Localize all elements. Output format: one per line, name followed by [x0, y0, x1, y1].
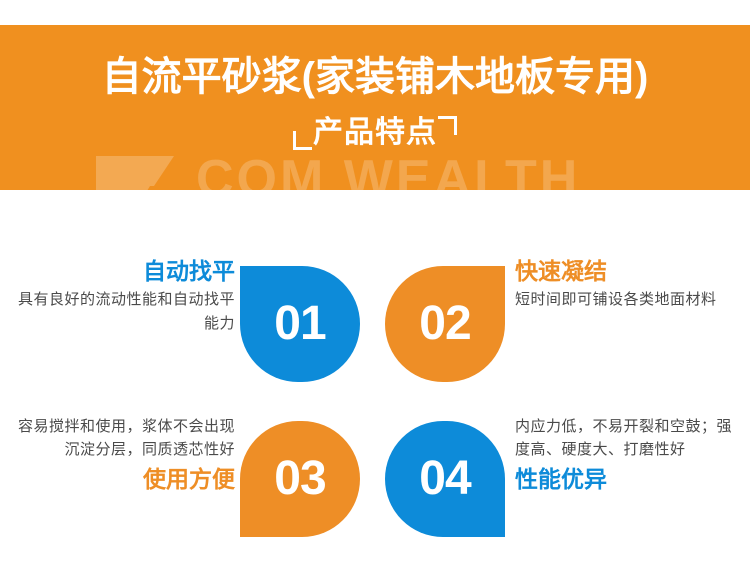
subtitle-bracket-group: 产品特点	[291, 118, 459, 148]
subtitle-row: 产品特点	[0, 118, 750, 148]
page-title: 自流平砂浆(家装铺木地板专用)	[0, 57, 750, 97]
feature-number-badge-02: 02	[385, 266, 505, 382]
feature-text-04: 内应力低，不易开裂和空鼓；强度高、硬度大、打磨性好 性能优异	[515, 415, 745, 492]
product-feature-banner: 自流平砂浆(家装铺木地板专用) 产品特点 COM WEALTH 木鑫特材	[0, 0, 750, 573]
feature-number-badge-01: 01	[240, 266, 360, 382]
feature-heading-03: 使用方便	[5, 466, 235, 492]
feature-text-03: 容易搅拌和使用，浆体不会出现沉淀分层，同质透芯性好 使用方便	[5, 415, 235, 492]
feature-card-01[interactable]: 自动找平 具有良好的流动性能和自动找平能力 01	[0, 248, 375, 403]
feature-card-04[interactable]: 04 内应力低，不易开裂和空鼓；强度高、硬度大、打磨性好 性能优异	[375, 403, 750, 558]
header-banner: 自流平砂浆(家装铺木地板专用) 产品特点	[0, 25, 750, 190]
page-subtitle: 产品特点	[313, 116, 437, 149]
corner-bracket-right-icon	[438, 116, 457, 135]
feature-body-01: 具有良好的流动性能和自动找平能力	[5, 288, 235, 335]
feature-body-02: 短时间即可铺设各类地面材料	[515, 288, 745, 311]
corner-bracket-left-icon	[293, 131, 312, 150]
feature-heading-01: 自动找平	[5, 258, 235, 284]
feature-card-02[interactable]: 02 快速凝结 短时间即可铺设各类地面材料	[375, 248, 750, 403]
feature-text-02: 快速凝结 短时间即可铺设各类地面材料	[515, 258, 745, 312]
feature-heading-04: 性能优异	[515, 466, 745, 492]
feature-grid: 自动找平 具有良好的流动性能和自动找平能力 01 02 快速凝结 短时间即可铺设…	[0, 240, 750, 560]
feature-card-03[interactable]: 容易搅拌和使用，浆体不会出现沉淀分层，同质透芯性好 使用方便 03	[0, 403, 375, 558]
feature-number-badge-04: 04	[385, 421, 505, 537]
feature-body-03: 容易搅拌和使用，浆体不会出现沉淀分层，同质透芯性好	[5, 415, 235, 462]
feature-text-01: 自动找平 具有良好的流动性能和自动找平能力	[5, 258, 235, 335]
feature-body-04: 内应力低，不易开裂和空鼓；强度高、硬度大、打磨性好	[515, 415, 745, 462]
feature-number-badge-03: 03	[240, 421, 360, 537]
feature-heading-02: 快速凝结	[515, 258, 745, 284]
